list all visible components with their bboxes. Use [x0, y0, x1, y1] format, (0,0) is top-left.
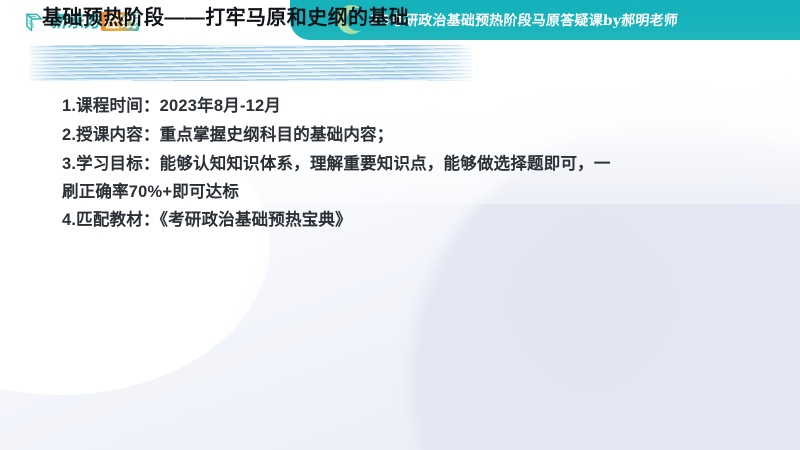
title-band-texture [30, 45, 472, 81]
content-list: 1.课程时间：2023年8月-12月 2.授课内容：重点掌握史纲科目的基础内容；… [62, 92, 702, 235]
content-line-3: 3.学习目标：能够认知知识体系，理解重要知识点，能够做选择题即可，一 [62, 150, 702, 178]
section-title-band [30, 45, 472, 81]
slide-canvas: 新东方在线 25考研政治基础预热阶段马原答疑课by郝明老师 基础预热阶段——打牢… [0, 0, 800, 450]
content-line-2: 2.授课内容：重点掌握史纲科目的基础内容； [62, 121, 702, 150]
content-line-4: 4.匹配教材：《考研政治基础预热宝典》 [62, 206, 702, 235]
content-line-1: 1.课程时间：2023年8月-12月 [62, 92, 702, 121]
page-title: 基础预热阶段——打牢马原和史纲的基础 [42, 0, 409, 36]
content-line-3-continued: 刷正确率70%+即可达标 [62, 178, 702, 206]
course-banner-label: 25考研政治基础预热阶段马原答疑课by郝明老师 [369, 10, 678, 30]
